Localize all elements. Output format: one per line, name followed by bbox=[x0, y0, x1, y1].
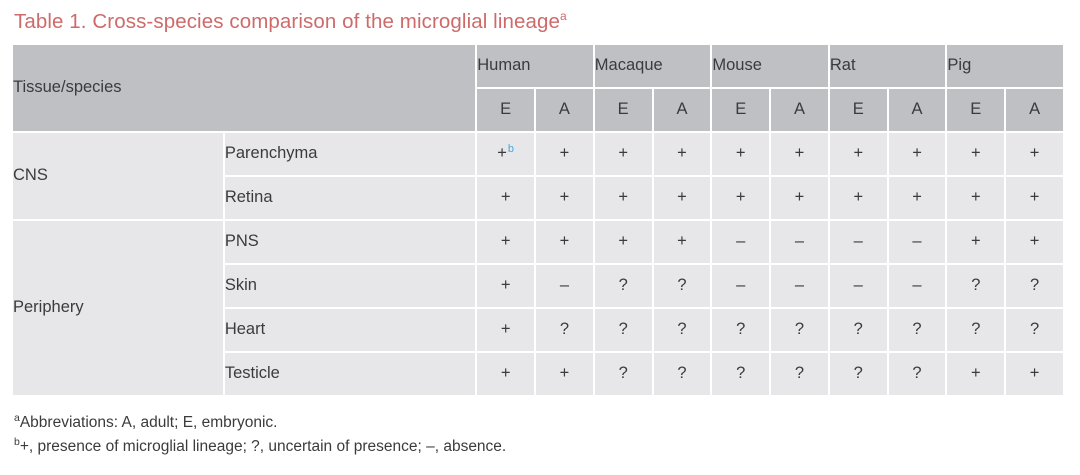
cell-parenchyma-mouse-e: + bbox=[712, 133, 769, 175]
page-title-text: Table 1. Cross-species comparison of the… bbox=[14, 10, 560, 33]
cell-heart-rat-e: ? bbox=[830, 309, 887, 351]
cell-testicle-human-a: + bbox=[536, 353, 593, 395]
cell-skin-human-a: – bbox=[536, 265, 593, 307]
cell-pns-mouse-e: – bbox=[712, 221, 769, 263]
row-label-retina: Retina bbox=[225, 177, 475, 219]
table-head: Tissue/species Human Macaque Mouse Rat P… bbox=[13, 45, 1063, 131]
footnote-b-text: +, presence of microglial lineage; ?, un… bbox=[20, 438, 506, 455]
cell-parenchyma-human-e: +b bbox=[477, 133, 534, 175]
cell-parenchyma-macaque-e: + bbox=[595, 133, 652, 175]
cell-pns-mouse-a: – bbox=[771, 221, 828, 263]
row-label-heart: Heart bbox=[225, 309, 475, 351]
cell-testicle-human-e: + bbox=[477, 353, 534, 395]
cell-skin-rat-e: – bbox=[830, 265, 887, 307]
cell-heart-macaque-a: ? bbox=[654, 309, 711, 351]
cell-retina-pig-e: + bbox=[947, 177, 1004, 219]
cell-pns-rat-e: – bbox=[830, 221, 887, 263]
title-footnote-marker: a bbox=[560, 9, 567, 23]
footnotes: aAbbreviations: A, adult; E, embryonic. … bbox=[13, 397, 1067, 459]
cell-heart-pig-e: ? bbox=[947, 309, 1004, 351]
footnote-b: b+, presence of microglial lineage; ?, u… bbox=[14, 435, 1067, 459]
cell-testicle-rat-a: ? bbox=[889, 353, 946, 395]
header-stage-rat-a: A bbox=[889, 89, 946, 131]
header-stage-macaque-a: A bbox=[654, 89, 711, 131]
cell-parenchyma-human-a: + bbox=[536, 133, 593, 175]
cell-testicle-mouse-e: ? bbox=[712, 353, 769, 395]
cell-skin-rat-a: – bbox=[889, 265, 946, 307]
header-species-macaque: Macaque bbox=[595, 45, 711, 87]
cell-pns-pig-e: + bbox=[947, 221, 1004, 263]
cell-retina-macaque-e: + bbox=[595, 177, 652, 219]
footnote-a-text: Abbreviations: A, adult; E, embryonic. bbox=[20, 414, 278, 431]
header-stage-macaque-e: E bbox=[595, 89, 652, 131]
cell-skin-mouse-a: – bbox=[771, 265, 828, 307]
header-stage-human-a: A bbox=[536, 89, 593, 131]
cell-testicle-rat-e: ? bbox=[830, 353, 887, 395]
header-stage-mouse-a: A bbox=[771, 89, 828, 131]
cell-testicle-macaque-e: ? bbox=[595, 353, 652, 395]
header-stage-pig-a: A bbox=[1006, 89, 1063, 131]
cell-pns-macaque-e: + bbox=[595, 221, 652, 263]
group-label-cns: CNS bbox=[13, 133, 223, 219]
group-label-periphery: Periphery bbox=[13, 221, 223, 395]
cell-pns-human-a: + bbox=[536, 221, 593, 263]
cell-parenchyma-rat-e: + bbox=[830, 133, 887, 175]
cell-parenchyma-pig-e: + bbox=[947, 133, 1004, 175]
comparison-table: Tissue/species Human Macaque Mouse Rat P… bbox=[11, 43, 1065, 397]
cell-skin-macaque-a: ? bbox=[654, 265, 711, 307]
cell-retina-human-e: + bbox=[477, 177, 534, 219]
row-label-skin: Skin bbox=[225, 265, 475, 307]
cell-heart-macaque-e: ? bbox=[595, 309, 652, 351]
cell-parenchyma-pig-a: + bbox=[1006, 133, 1063, 175]
cell-testicle-macaque-a: ? bbox=[654, 353, 711, 395]
header-stage-human-e: E bbox=[477, 89, 534, 131]
header-species-mouse: Mouse bbox=[712, 45, 828, 87]
cell-heart-mouse-e: ? bbox=[712, 309, 769, 351]
header-species-pig: Pig bbox=[947, 45, 1063, 87]
cell-footnote-marker: b bbox=[508, 143, 514, 155]
cell-skin-human-e: + bbox=[477, 265, 534, 307]
cell-retina-rat-a: + bbox=[889, 177, 946, 219]
header-stage-mouse-e: E bbox=[712, 89, 769, 131]
cell-testicle-pig-a: + bbox=[1006, 353, 1063, 395]
cell-heart-mouse-a: ? bbox=[771, 309, 828, 351]
footnote-a: aAbbreviations: A, adult; E, embryonic. bbox=[14, 411, 1067, 435]
cell-pns-pig-a: + bbox=[1006, 221, 1063, 263]
cell-retina-rat-e: + bbox=[830, 177, 887, 219]
cell-retina-mouse-e: + bbox=[712, 177, 769, 219]
table-body: CNS Parenchyma +b + + + + + + + + + Reti… bbox=[13, 133, 1063, 395]
row-label-testicle: Testicle bbox=[225, 353, 475, 395]
cell-value: + bbox=[497, 144, 507, 162]
cell-parenchyma-rat-a: + bbox=[889, 133, 946, 175]
header-stage-pig-e: E bbox=[947, 89, 1004, 131]
header-stage-rat-e: E bbox=[830, 89, 887, 131]
header-species-human: Human bbox=[477, 45, 593, 87]
table-page: Table 1. Cross-species comparison of the… bbox=[0, 0, 1080, 475]
header-species-rat: Rat bbox=[830, 45, 946, 87]
cell-skin-mouse-e: – bbox=[712, 265, 769, 307]
page-title: Table 1. Cross-species comparison of the… bbox=[13, 0, 1067, 43]
cell-skin-pig-a: ? bbox=[1006, 265, 1063, 307]
cell-retina-mouse-a: + bbox=[771, 177, 828, 219]
cell-retina-pig-a: + bbox=[1006, 177, 1063, 219]
cell-heart-human-a: ? bbox=[536, 309, 593, 351]
cell-skin-pig-e: ? bbox=[947, 265, 1004, 307]
cell-pns-rat-a: – bbox=[889, 221, 946, 263]
row-label-parenchyma: Parenchyma bbox=[225, 133, 475, 175]
cell-pns-macaque-a: + bbox=[654, 221, 711, 263]
header-tissue-species: Tissue/species bbox=[13, 45, 475, 131]
cell-testicle-mouse-a: ? bbox=[771, 353, 828, 395]
cell-testicle-pig-e: + bbox=[947, 353, 1004, 395]
cell-parenchyma-macaque-a: + bbox=[654, 133, 711, 175]
cell-retina-human-a: + bbox=[536, 177, 593, 219]
cell-skin-macaque-e: ? bbox=[595, 265, 652, 307]
table-row: CNS Parenchyma +b + + + + + + + + + bbox=[13, 133, 1063, 175]
cell-heart-rat-a: ? bbox=[889, 309, 946, 351]
cell-parenchyma-mouse-a: + bbox=[771, 133, 828, 175]
row-label-pns: PNS bbox=[225, 221, 475, 263]
header-row-species: Tissue/species Human Macaque Mouse Rat P… bbox=[13, 45, 1063, 87]
cell-retina-macaque-a: + bbox=[654, 177, 711, 219]
cell-heart-pig-a: ? bbox=[1006, 309, 1063, 351]
cell-heart-human-e: + bbox=[477, 309, 534, 351]
table-row: Periphery PNS + + + + – – – – + + bbox=[13, 221, 1063, 263]
cell-pns-human-e: + bbox=[477, 221, 534, 263]
